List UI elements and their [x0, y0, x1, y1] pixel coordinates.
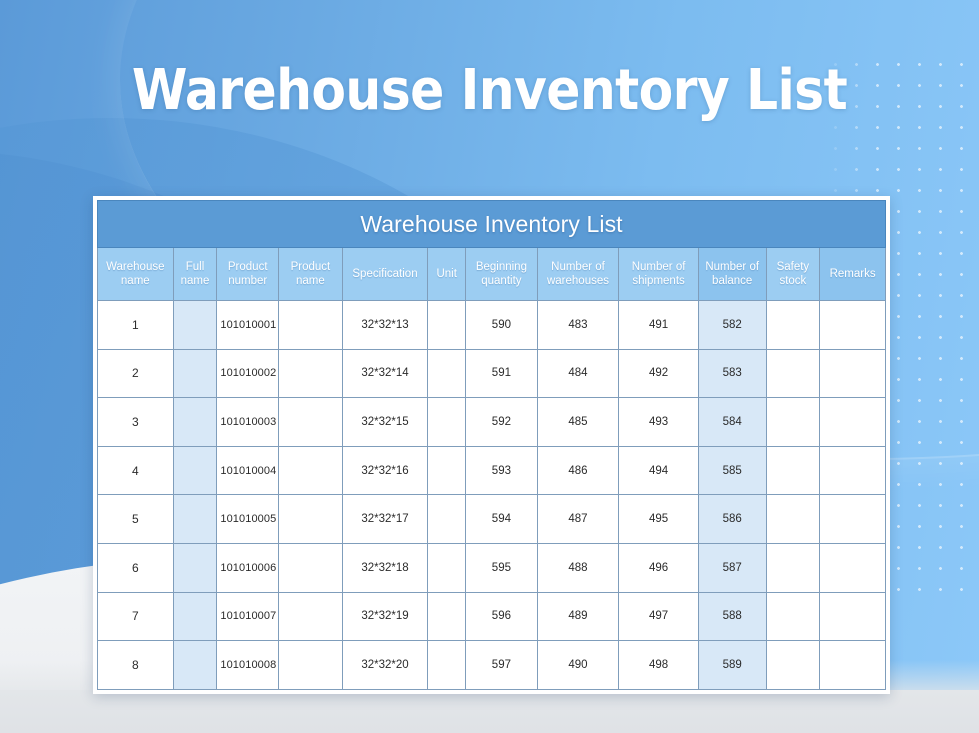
cell-full-name[interactable]: [173, 641, 217, 690]
table-header-row: Warehouse nameFull nameProduct numberPro…: [98, 248, 886, 301]
cell-number-of-warehouses[interactable]: 486: [537, 446, 619, 495]
cell-product-name[interactable]: [279, 641, 343, 690]
cell-number-of-balance[interactable]: 588: [698, 592, 766, 641]
cell-specification[interactable]: 32*32*16: [342, 446, 428, 495]
cell-unit[interactable]: [428, 398, 466, 447]
table-banner-title: Warehouse Inventory List: [98, 201, 886, 248]
cell-product-name[interactable]: [279, 398, 343, 447]
cell-product-name[interactable]: [279, 592, 343, 641]
column-header-product-name[interactable]: Product name: [279, 248, 343, 301]
cell-safety-stock[interactable]: [766, 495, 820, 544]
cell-product-number[interactable]: 101010001: [217, 301, 279, 350]
column-header-beginning-quantity[interactable]: Beginning quantity: [466, 248, 538, 301]
column-header-number-of-balance[interactable]: Number of balance: [698, 248, 766, 301]
cell-number-of-balance[interactable]: 584: [698, 398, 766, 447]
cell-product-name[interactable]: [279, 446, 343, 495]
cell-remarks[interactable]: [820, 543, 886, 592]
page-title: Warehouse Inventory List: [0, 58, 979, 123]
cell-remarks[interactable]: [820, 446, 886, 495]
cell-number-of-warehouses[interactable]: 485: [537, 398, 619, 447]
cell-number-of-shipments[interactable]: 496: [619, 543, 699, 592]
cell-beginning-quantity[interactable]: 593: [466, 446, 538, 495]
cell-warehouse-name[interactable]: 3: [98, 398, 174, 447]
cell-full-name[interactable]: [173, 398, 217, 447]
cell-number-of-warehouses[interactable]: 487: [537, 495, 619, 544]
column-header-specification[interactable]: Specification: [342, 248, 428, 301]
table-row: 410101000432*32*16593486494585: [98, 446, 886, 495]
table-body: 110101000132*32*135904834915822101010002…: [98, 301, 886, 690]
table-row: 210101000232*32*14591484492583: [98, 349, 886, 398]
cell-product-name[interactable]: [279, 301, 343, 350]
cell-warehouse-name[interactable]: 8: [98, 641, 174, 690]
cell-number-of-balance[interactable]: 586: [698, 495, 766, 544]
cell-safety-stock[interactable]: [766, 446, 820, 495]
cell-number-of-shipments[interactable]: 491: [619, 301, 699, 350]
cell-product-name[interactable]: [279, 495, 343, 544]
cell-unit[interactable]: [428, 301, 466, 350]
table-row: 310101000332*32*15592485493584: [98, 398, 886, 447]
cell-warehouse-name[interactable]: 2: [98, 349, 174, 398]
cell-specification[interactable]: 32*32*18: [342, 543, 428, 592]
cell-specification[interactable]: 32*32*17: [342, 495, 428, 544]
cell-number-of-balance[interactable]: 589: [698, 641, 766, 690]
column-header-remarks[interactable]: Remarks: [820, 248, 886, 301]
cell-full-name[interactable]: [173, 543, 217, 592]
cell-product-name[interactable]: [279, 349, 343, 398]
table-head: Warehouse Inventory List Warehouse nameF…: [98, 201, 886, 301]
cell-unit[interactable]: [428, 495, 466, 544]
cell-number-of-balance[interactable]: 582: [698, 301, 766, 350]
cell-specification[interactable]: 32*32*14: [342, 349, 428, 398]
column-header-warehouse-name[interactable]: Warehouse name: [98, 248, 174, 301]
cell-warehouse-name[interactable]: 7: [98, 592, 174, 641]
cell-full-name[interactable]: [173, 349, 217, 398]
cell-unit[interactable]: [428, 641, 466, 690]
cell-number-of-shipments[interactable]: 493: [619, 398, 699, 447]
background-bottom-band: [0, 690, 979, 733]
cell-number-of-balance[interactable]: 587: [698, 543, 766, 592]
cell-beginning-quantity[interactable]: 597: [466, 641, 538, 690]
cell-number-of-warehouses[interactable]: 484: [537, 349, 619, 398]
cell-number-of-warehouses[interactable]: 490: [537, 641, 619, 690]
cell-safety-stock[interactable]: [766, 543, 820, 592]
cell-unit[interactable]: [428, 592, 466, 641]
cell-safety-stock[interactable]: [766, 641, 820, 690]
table-row: 710101000732*32*19596489497588: [98, 592, 886, 641]
cell-safety-stock[interactable]: [766, 301, 820, 350]
cell-product-number[interactable]: 101010007: [217, 592, 279, 641]
cell-safety-stock[interactable]: [766, 349, 820, 398]
cell-number-of-shipments[interactable]: 498: [619, 641, 699, 690]
cell-number-of-shipments[interactable]: 494: [619, 446, 699, 495]
cell-full-name[interactable]: [173, 495, 217, 544]
cell-product-number[interactable]: 101010004: [217, 446, 279, 495]
cell-number-of-warehouses[interactable]: 489: [537, 592, 619, 641]
cell-remarks[interactable]: [820, 398, 886, 447]
cell-number-of-shipments[interactable]: 497: [619, 592, 699, 641]
cell-number-of-balance[interactable]: 583: [698, 349, 766, 398]
cell-remarks[interactable]: [820, 641, 886, 690]
cell-beginning-quantity[interactable]: 595: [466, 543, 538, 592]
cell-beginning-quantity[interactable]: 592: [466, 398, 538, 447]
column-header-unit[interactable]: Unit: [428, 248, 466, 301]
cell-product-number[interactable]: 101010002: [217, 349, 279, 398]
cell-unit[interactable]: [428, 543, 466, 592]
cell-warehouse-name[interactable]: 1: [98, 301, 174, 350]
cell-safety-stock[interactable]: [766, 592, 820, 641]
cell-warehouse-name[interactable]: 6: [98, 543, 174, 592]
cell-warehouse-name[interactable]: 4: [98, 446, 174, 495]
cell-remarks[interactable]: [820, 301, 886, 350]
cell-product-number[interactable]: 101010003: [217, 398, 279, 447]
cell-unit[interactable]: [428, 349, 466, 398]
table-row: 610101000632*32*18595488496587: [98, 543, 886, 592]
cell-specification[interactable]: 32*32*19: [342, 592, 428, 641]
table-row: 110101000132*32*13590483491582: [98, 301, 886, 350]
cell-specification[interactable]: 32*32*13: [342, 301, 428, 350]
cell-full-name[interactable]: [173, 446, 217, 495]
cell-specification[interactable]: 32*32*15: [342, 398, 428, 447]
table-banner-row: Warehouse Inventory List: [98, 201, 886, 248]
table-row: 510101000532*32*17594487495586: [98, 495, 886, 544]
column-header-full-name[interactable]: Full name: [173, 248, 217, 301]
cell-remarks[interactable]: [820, 349, 886, 398]
cell-specification[interactable]: 32*32*20: [342, 641, 428, 690]
cell-full-name[interactable]: [173, 301, 217, 350]
cell-beginning-quantity[interactable]: 594: [466, 495, 538, 544]
cell-beginning-quantity[interactable]: 590: [466, 301, 538, 350]
column-header-safety-stock[interactable]: Safety stock: [766, 248, 820, 301]
column-header-number-of-warehouses[interactable]: Number of warehouses: [537, 248, 619, 301]
cell-product-number[interactable]: 101010008: [217, 641, 279, 690]
cell-number-of-balance[interactable]: 585: [698, 446, 766, 495]
column-header-number-of-shipments[interactable]: Number of shipments: [619, 248, 699, 301]
cell-remarks[interactable]: [820, 495, 886, 544]
inventory-table-frame: Warehouse Inventory List Warehouse nameF…: [93, 196, 890, 694]
column-header-product-number[interactable]: Product number: [217, 248, 279, 301]
cell-number-of-warehouses[interactable]: 483: [537, 301, 619, 350]
cell-number-of-warehouses[interactable]: 488: [537, 543, 619, 592]
table-row: 810101000832*32*20597490498589: [98, 641, 886, 690]
cell-product-number[interactable]: 101010006: [217, 543, 279, 592]
cell-safety-stock[interactable]: [766, 398, 820, 447]
cell-remarks[interactable]: [820, 592, 886, 641]
cell-full-name[interactable]: [173, 592, 217, 641]
cell-product-number[interactable]: 101010005: [217, 495, 279, 544]
cell-beginning-quantity[interactable]: 596: [466, 592, 538, 641]
cell-warehouse-name[interactable]: 5: [98, 495, 174, 544]
inventory-table: Warehouse Inventory List Warehouse nameF…: [97, 200, 886, 690]
cell-beginning-quantity[interactable]: 591: [466, 349, 538, 398]
cell-unit[interactable]: [428, 446, 466, 495]
cell-number-of-shipments[interactable]: 495: [619, 495, 699, 544]
cell-number-of-shipments[interactable]: 492: [619, 349, 699, 398]
cell-product-name[interactable]: [279, 543, 343, 592]
slide-canvas: Warehouse Inventory List Warehouse Inven…: [0, 0, 979, 733]
